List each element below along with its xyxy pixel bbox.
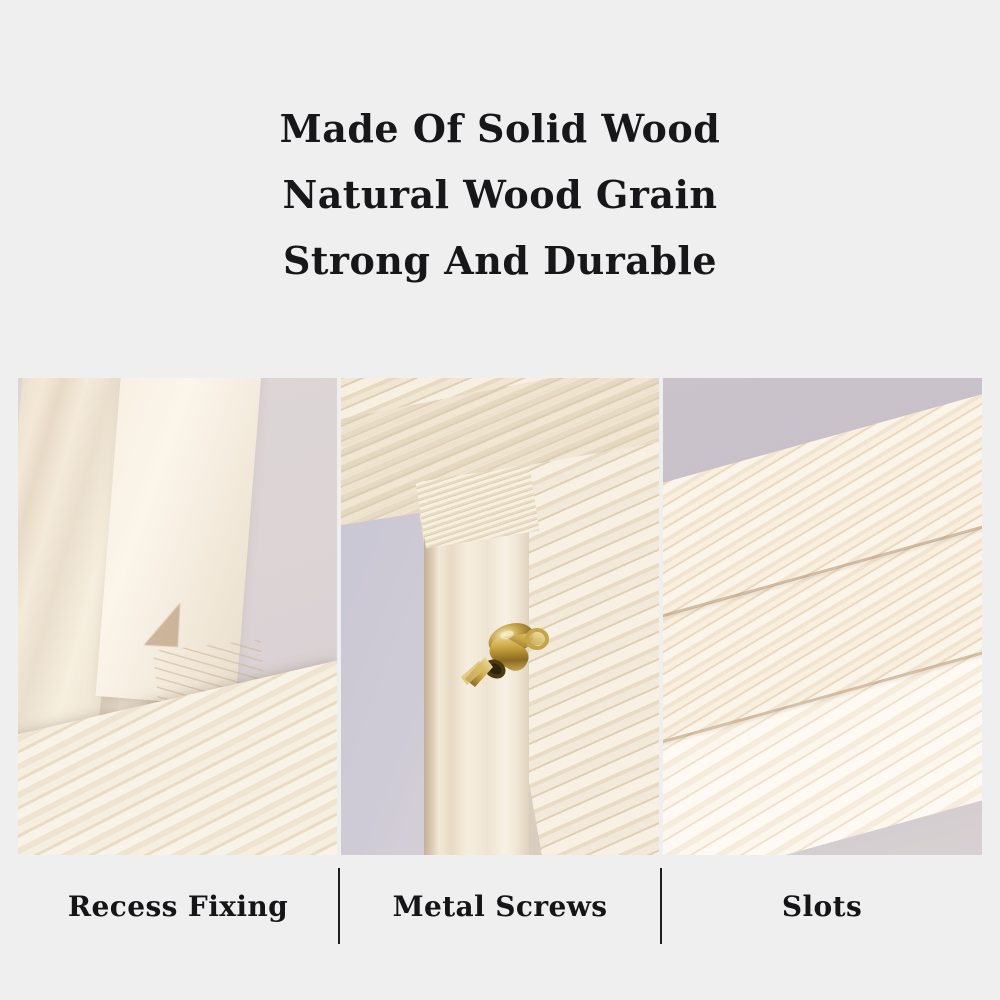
- feature-image-strip: [18, 378, 982, 855]
- caption-label: Slots: [782, 890, 862, 923]
- caption-label: Recess Fixing: [68, 890, 288, 923]
- feature-image-metal-screws: [341, 378, 660, 855]
- feature-image-slots: [663, 378, 982, 855]
- wood-post-left-shading: [424, 512, 440, 855]
- headline-block: Made Of Solid Wood Natural Wood Grain St…: [0, 96, 1000, 294]
- caption-cell-slots: Slots: [662, 890, 982, 923]
- brass-screw-icon: [459, 617, 555, 693]
- feature-caption-row: Recess Fixing Metal Screws Slots: [18, 858, 982, 954]
- caption-cell-recess-fixing: Recess Fixing: [18, 890, 338, 923]
- recess-notch-icon: [144, 601, 180, 647]
- headline-line-2: Natural Wood Grain: [0, 162, 1000, 228]
- caption-label: Metal Screws: [393, 890, 608, 923]
- feature-image-recess-fixing: [18, 378, 337, 855]
- caption-cell-metal-screws: Metal Screws: [340, 890, 660, 923]
- headline-line-3: Strong And Durable: [0, 228, 1000, 294]
- headline-line-1: Made Of Solid Wood: [0, 96, 1000, 162]
